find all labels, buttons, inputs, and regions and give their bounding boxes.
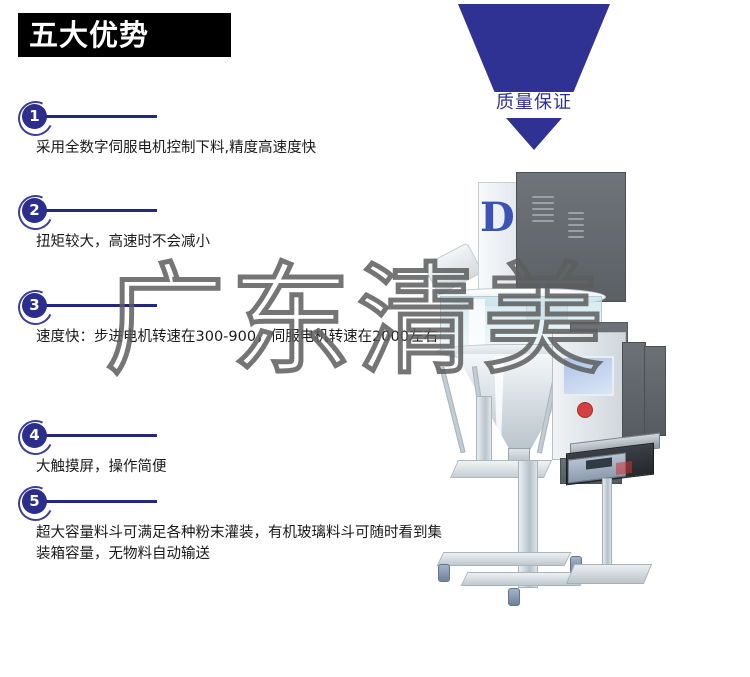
vent-slot-icon <box>532 208 554 210</box>
vent-slot-icon <box>568 236 584 238</box>
emergency-stop-button[interactable] <box>577 402 593 418</box>
feature-header-5: 5 <box>0 489 456 519</box>
vent-slot-icon <box>532 214 554 216</box>
feature-header-3: 3 <box>0 293 438 323</box>
feature-header-2: 2 <box>0 198 210 228</box>
feature-text: 采用全数字伺服电机控制下料,精度高速度快 <box>36 138 316 159</box>
vent-slot-icon <box>532 196 554 198</box>
feed-chute-part <box>423 242 483 295</box>
quality-assurance-label: 质量保证 <box>455 94 613 112</box>
feature-header-4: 4 <box>0 423 167 453</box>
feature-item-5: 5 超大容量料斗可满足各种粉末灌装，有机玻璃料斗可随时看到集装箱容量，无物料自动… <box>0 489 456 565</box>
feature-number-badge: 1 <box>22 104 47 129</box>
feature-rule <box>45 115 157 118</box>
feature-list: 1 采用全数字伺服电机控制下料,精度高速度快 2 扭矩较大，高速时不会减小 3 … <box>0 0 470 677</box>
scale-keypad[interactable] <box>616 461 632 475</box>
feature-number-badge: 5 <box>22 489 47 514</box>
feature-text: 速度快：步进电机转速在300-900，伺服电机转速在2000左右 <box>36 327 438 348</box>
vent-slot-icon <box>568 224 584 226</box>
feature-rule <box>45 434 157 437</box>
funnel-top-shape-icon <box>458 4 610 92</box>
feature-rule <box>45 209 157 212</box>
vent-slot-icon <box>568 212 584 214</box>
feature-text: 扭矩较大，高速时不会减小 <box>36 232 210 253</box>
scale-pedestal-base <box>566 564 652 584</box>
feature-number-badge: 4 <box>22 423 47 448</box>
vent-slot-icon <box>532 202 554 204</box>
machine-illustration: D <box>420 160 750 630</box>
vent-slot-icon <box>568 218 584 220</box>
side-guard-panel <box>622 342 646 440</box>
vent-slot-icon <box>532 220 554 222</box>
feature-text: 大触摸屏，操作简便 <box>36 457 167 478</box>
feature-item-3: 3 速度快：步进电机转速在300-900，伺服电机转速在2000左右 <box>0 293 438 348</box>
caster-wheel-part <box>438 564 450 582</box>
touchscreen-display[interactable] <box>562 356 614 396</box>
machine-brand-logo: D <box>480 198 514 250</box>
upper-column-part <box>476 396 492 468</box>
feature-item-4: 4 大触摸屏，操作简便 <box>0 423 167 478</box>
feature-number-badge: 3 <box>22 293 47 318</box>
feature-text: 超大容量料斗可满足各种粉末灌装，有机玻璃料斗可随时看到集装箱容量，无物料自动输送 <box>36 523 456 565</box>
vent-slot-icon <box>568 230 584 232</box>
quality-assurance-badge: 质量保证 <box>455 4 615 154</box>
funnel-bottom-triangle-icon <box>506 118 562 150</box>
feature-number-badge: 2 <box>22 198 47 223</box>
feature-header-1: 1 <box>0 104 316 134</box>
side-guard-panel <box>644 346 666 436</box>
main-column-part <box>518 460 538 588</box>
base-bar-part <box>437 552 572 566</box>
feature-item-2: 2 扭矩较大，高速时不会减小 <box>0 198 210 253</box>
feature-rule <box>45 304 157 307</box>
feature-item-1: 1 采用全数字伺服电机控制下料,精度高速度快 <box>0 104 316 159</box>
promo-page: 五大优势 1 采用全数字伺服电机控制下料,精度高速度快 2 扭矩较大，高速时不会… <box>0 0 750 677</box>
scale-pedestal-post <box>602 478 612 570</box>
support-brace-part <box>439 367 465 454</box>
feature-rule <box>45 500 157 503</box>
caster-wheel-part <box>508 588 520 606</box>
